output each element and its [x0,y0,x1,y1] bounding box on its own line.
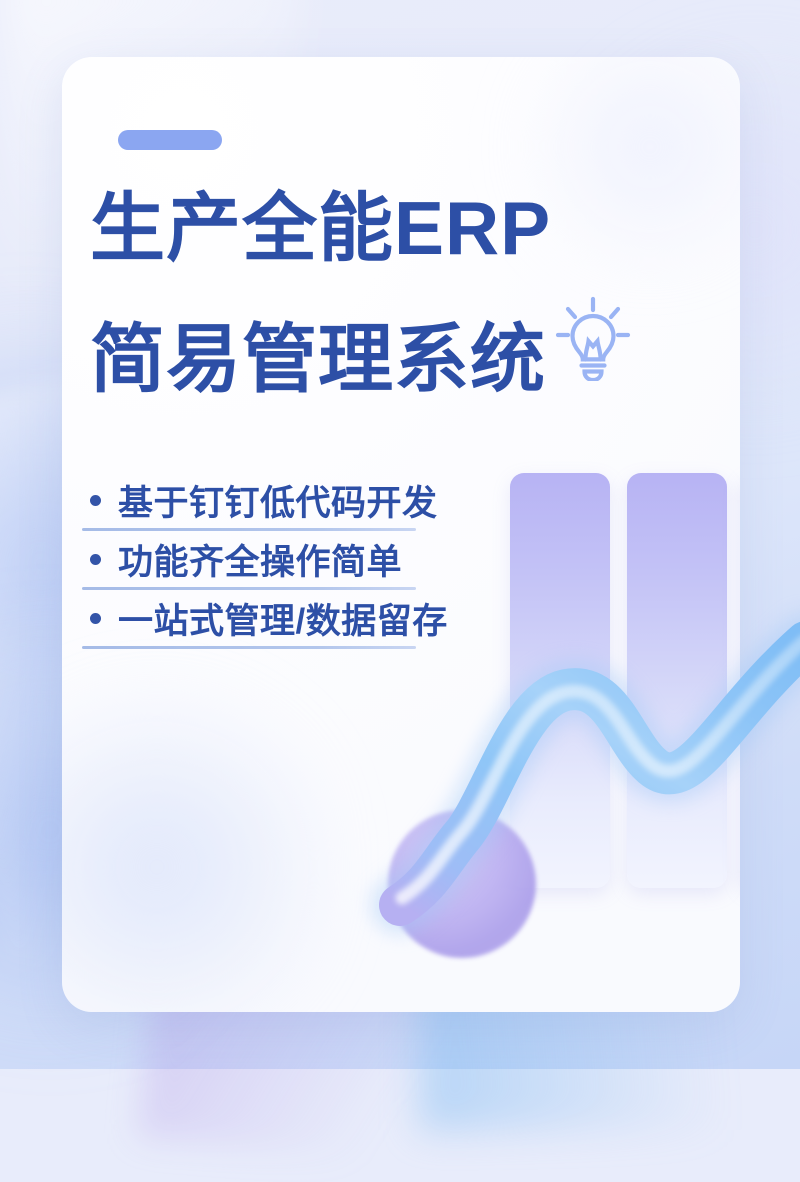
bullet-dot-icon [90,613,101,624]
bullet-dot-icon [90,495,101,506]
list-item: 基于钉钉低代码开发 [80,472,448,528]
content-card: 生产全能ERP 简易管理系统 [62,57,740,1012]
poster-canvas: 生产全能ERP 简易管理系统 [0,0,800,1069]
headline-line-2: 简易管理系统 [90,320,546,398]
list-separator [82,646,416,649]
list-item: 一站式管理/数据留存 [80,590,448,646]
page-title: 生产全能ERP 简易管理系统 [90,189,730,398]
card-tint-lower-left [62,657,322,1012]
list-item: 功能齐全操作简单 [80,531,448,587]
feature-label: 基于钉钉低代码开发 [118,475,438,526]
lightbulb-icon [554,295,632,394]
feature-label: 功能齐全操作简单 [118,534,402,585]
bullet-dot-icon [90,554,101,565]
chart-bar [627,473,727,888]
feature-list: 基于钉钉低代码开发 功能齐全操作简单 一站式管理/数据留存 [80,472,448,649]
chart-bar [510,473,610,888]
headline-line-1: 生产全能ERP [90,189,551,267]
feature-label: 一站式管理/数据留存 [118,593,448,644]
accent-pill [118,130,222,150]
